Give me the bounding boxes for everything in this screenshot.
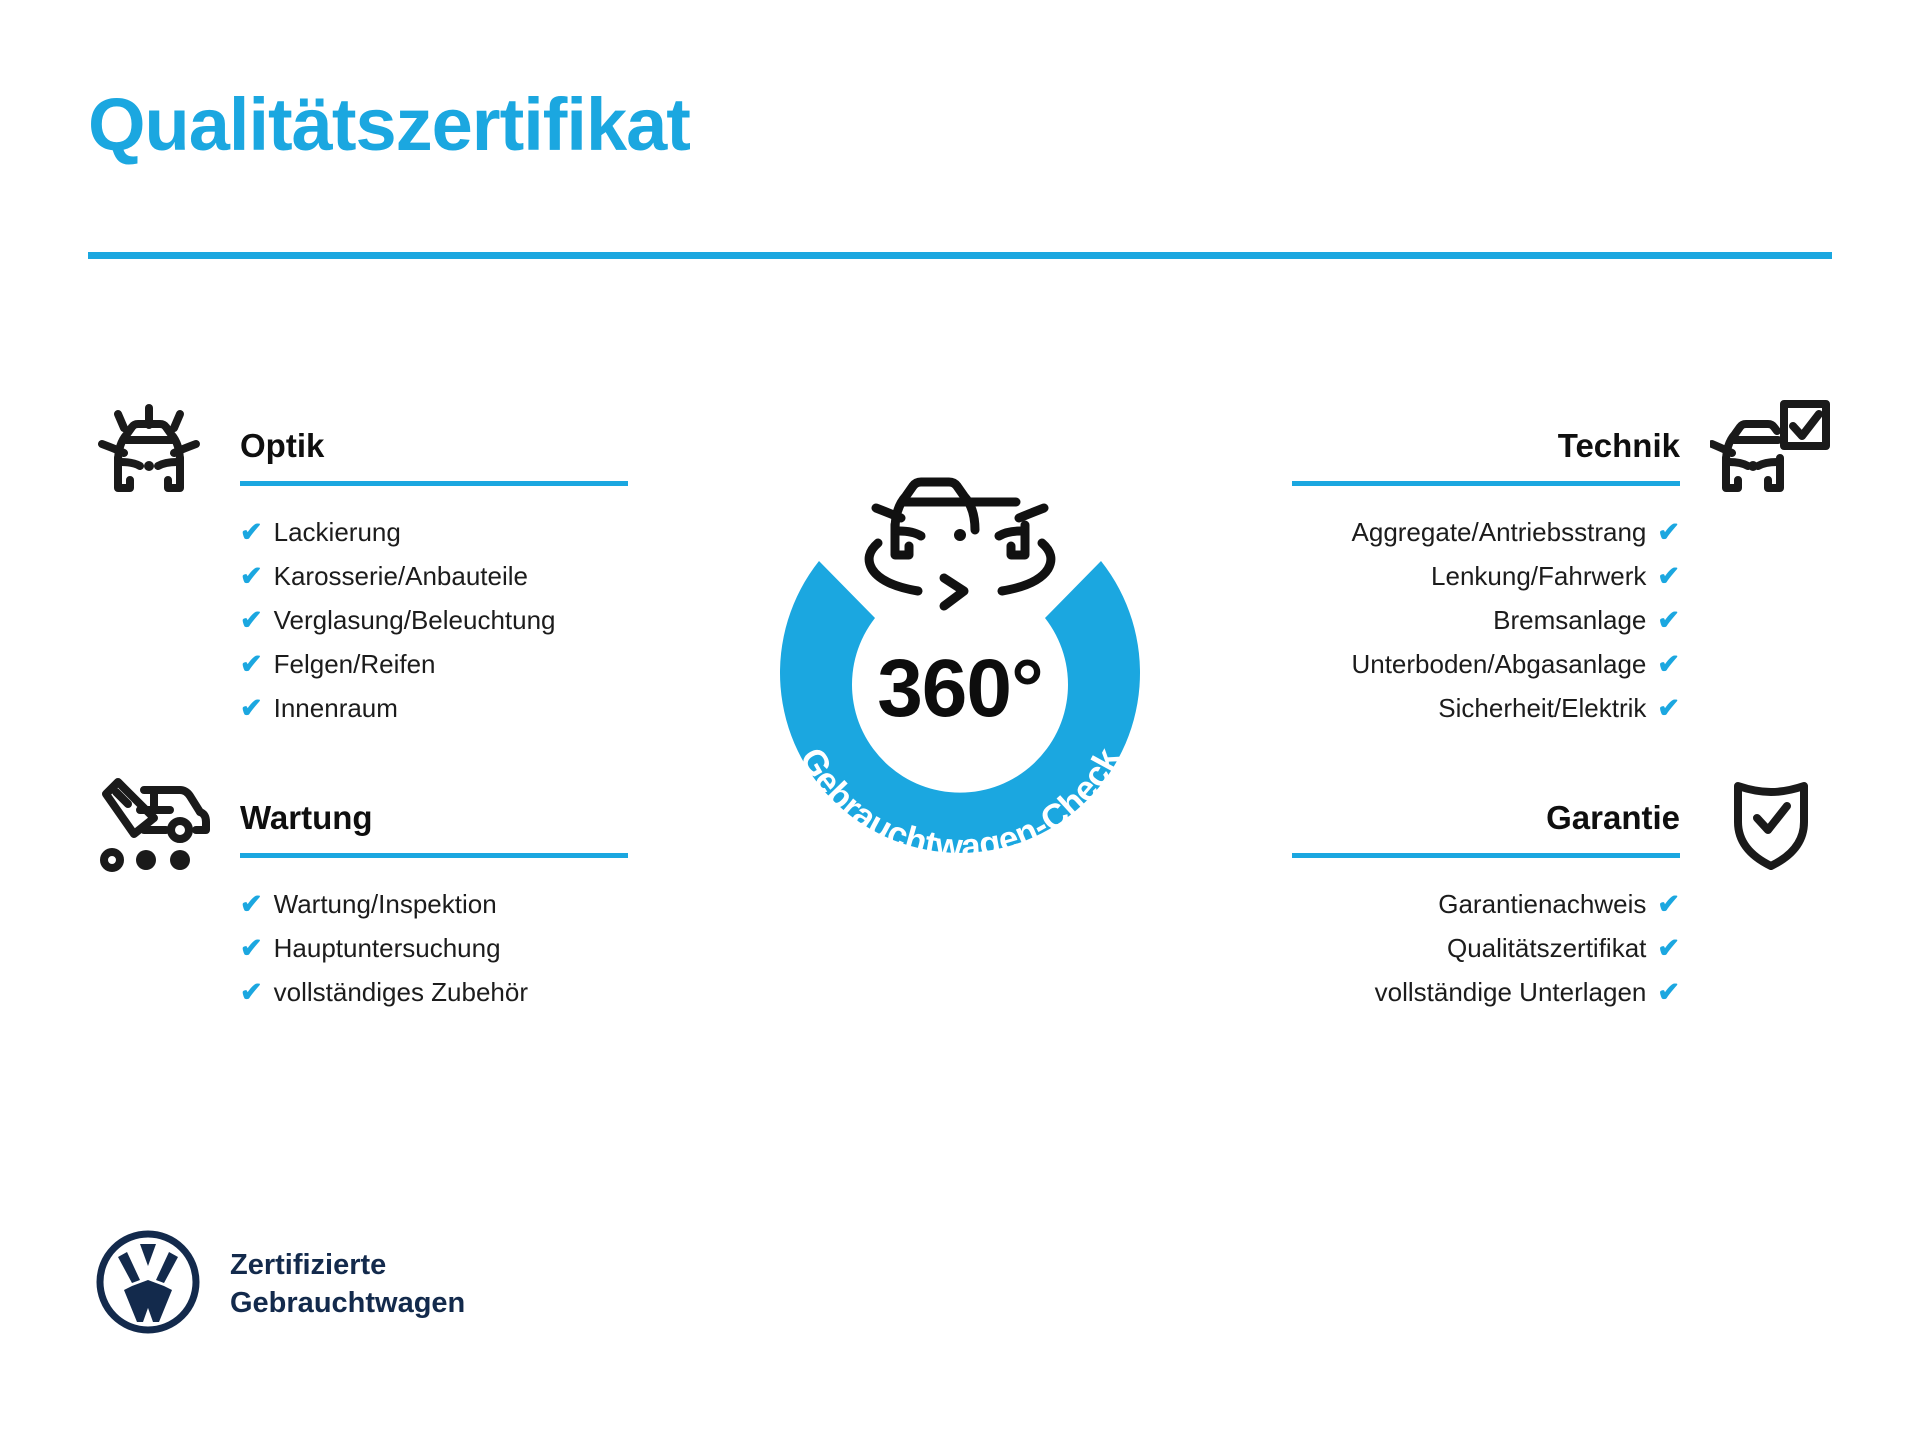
list-item-label: vollständige Unterlagen	[1375, 977, 1647, 1007]
list-item-label: vollständiges Zubehör	[274, 977, 528, 1007]
list-item: ✔Felgen/Reifen	[240, 642, 708, 686]
check-icon: ✔	[1657, 649, 1680, 679]
pen-car-service-icon	[88, 772, 210, 877]
list-item-label: Garantienachweis	[1438, 889, 1646, 919]
check-icon: ✔	[240, 605, 263, 635]
section-title-optik: Optik	[240, 429, 324, 462]
check-icon: ✔	[1657, 933, 1680, 963]
section-garantie: Garantie Garantienachweis✔ Qualitätszert…	[1212, 772, 1832, 1030]
badge-360-check: Gebrauchtwagen-Check 360°	[690, 380, 1230, 900]
list-item: Sicherheit/Elektrik✔	[1212, 686, 1680, 730]
list-item-label: Qualitätszertifikat	[1447, 933, 1646, 963]
check-icon: ✔	[1657, 889, 1680, 919]
section-title-garantie: Garantie	[1546, 801, 1680, 834]
list-item: Lenkung/Fahrwerk✔	[1212, 554, 1680, 598]
check-icon: ✔	[1657, 693, 1680, 723]
list-item-label: Felgen/Reifen	[274, 649, 436, 679]
section-header-optik: Optik	[88, 400, 708, 486]
badge-graphic: Gebrauchtwagen-Check	[690, 380, 1230, 900]
list-item: ✔Karosserie/Anbauteile	[240, 554, 708, 598]
check-icon: ✔	[1657, 561, 1680, 591]
list-item: ✔Innenraum	[240, 686, 708, 730]
check-icon: ✔	[240, 561, 263, 591]
checklist-wartung: ✔Wartung/Inspektion ✔Hauptuntersuchung ✔…	[240, 882, 708, 1014]
shield-check-icon	[1710, 772, 1832, 877]
list-item-label: Hauptuntersuchung	[274, 933, 501, 963]
check-icon: ✔	[240, 649, 263, 679]
section-rule-garantie	[1292, 853, 1680, 858]
certificate-page: Qualitätszertifikat	[0, 0, 1920, 1440]
list-item: Aggregate/Antriebsstrang✔	[1212, 510, 1680, 554]
section-rule-technik	[1292, 481, 1680, 486]
header-divider	[88, 252, 1832, 259]
checklist-garantie: Garantienachweis✔ Qualitätszertifikat✔ v…	[1212, 882, 1680, 1014]
section-wartung: Wartung ✔Wartung/Inspektion ✔Hauptunters…	[88, 772, 708, 1030]
footer-brand: Zertifizierte Gebrauchtwagen	[94, 1228, 465, 1341]
check-icon: ✔	[240, 977, 263, 1007]
badge-degrees: 360°	[690, 648, 1230, 730]
section-title-technik: Technik	[1558, 429, 1680, 462]
section-header-garantie: Garantie	[1212, 772, 1832, 858]
volkswagen-logo	[94, 1228, 202, 1341]
section-rule-wartung	[240, 853, 628, 858]
list-item: ✔Hauptuntersuchung	[240, 926, 708, 970]
check-icon: ✔	[240, 517, 263, 547]
check-icon: ✔	[1657, 605, 1680, 635]
list-item: Bremsanlage✔	[1212, 598, 1680, 642]
check-icon: ✔	[240, 889, 263, 919]
section-header-wartung: Wartung	[88, 772, 708, 858]
checklist-optik: ✔Lackierung ✔Karosserie/Anbauteile ✔Verg…	[240, 510, 708, 730]
check-icon: ✔	[1657, 977, 1680, 1007]
page-title: Qualitätszertifikat	[88, 88, 690, 162]
list-item-label: Bremsanlage	[1493, 605, 1646, 635]
checklist-technik: Aggregate/Antriebsstrang✔ Lenkung/Fahrwe…	[1212, 510, 1680, 730]
list-item-label: Lackierung	[274, 517, 401, 547]
car-rotation-icon	[869, 482, 1051, 606]
list-item: ✔Lackierung	[240, 510, 708, 554]
list-item: Qualitätszertifikat✔	[1212, 926, 1680, 970]
section-optik: Optik ✔Lackierung ✔Karosserie/Anbauteile…	[88, 400, 708, 746]
check-icon: ✔	[240, 933, 263, 963]
list-item-label: Wartung/Inspektion	[274, 889, 497, 919]
list-item-label: Verglasung/Beleuchtung	[274, 605, 556, 635]
list-item-label: Unterboden/Abgasanlage	[1351, 649, 1646, 679]
car-checkbox-icon	[1710, 400, 1832, 505]
list-item-label: Lenkung/Fahrwerk	[1431, 561, 1646, 591]
list-item-label: Innenraum	[274, 693, 398, 723]
section-title-wartung: Wartung	[240, 801, 373, 834]
list-item-label: Sicherheit/Elektrik	[1438, 693, 1646, 723]
list-item: ✔Wartung/Inspektion	[240, 882, 708, 926]
list-item: Garantienachweis✔	[1212, 882, 1680, 926]
list-item-label: Aggregate/Antriebsstrang	[1352, 517, 1647, 547]
list-item: ✔vollständiges Zubehör	[240, 970, 708, 1014]
list-item: ✔Verglasung/Beleuchtung	[240, 598, 708, 642]
section-header-technik: Technik	[1212, 400, 1832, 486]
section-rule-optik	[240, 481, 628, 486]
section-technik: Technik Aggregate/Antriebsstrang✔ Lenkun…	[1212, 400, 1832, 746]
list-item: vollständige Unterlagen✔	[1212, 970, 1680, 1014]
list-item-label: Karosserie/Anbauteile	[274, 561, 528, 591]
car-polish-icon	[88, 400, 210, 505]
list-item: Unterboden/Abgasanlage✔	[1212, 642, 1680, 686]
footer-text: Zertifizierte Gebrauchtwagen	[230, 1247, 465, 1321]
check-icon: ✔	[1657, 517, 1680, 547]
check-icon: ✔	[240, 693, 263, 723]
